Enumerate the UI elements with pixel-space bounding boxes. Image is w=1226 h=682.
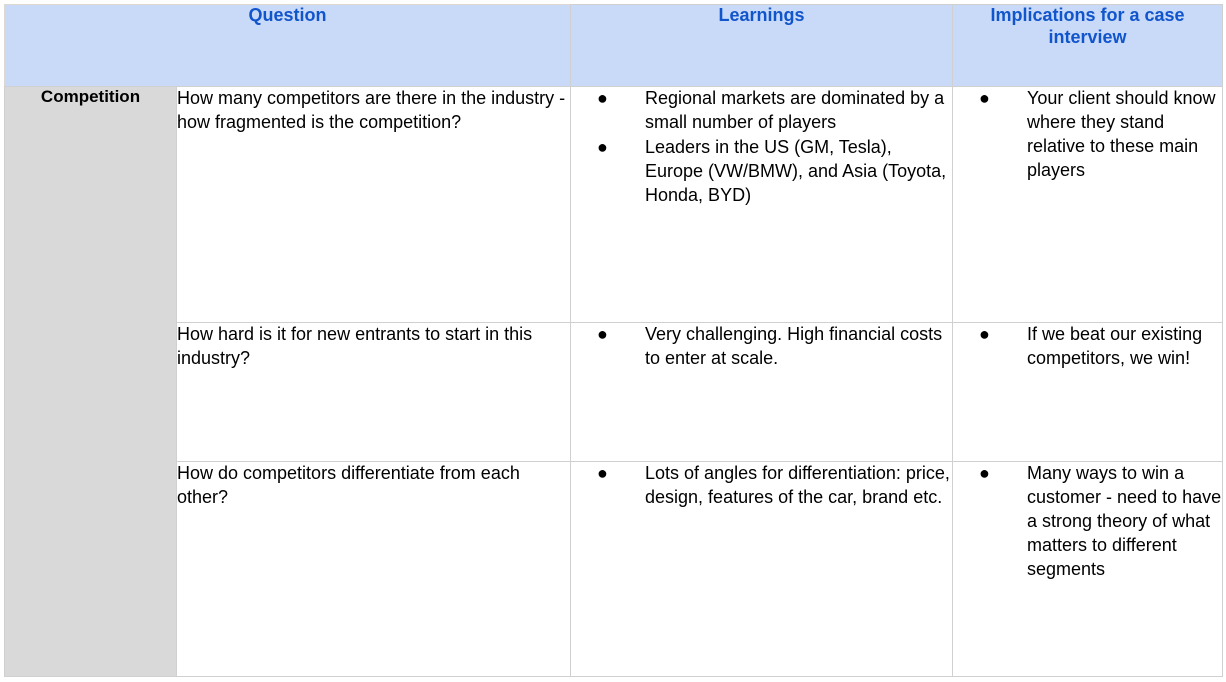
bullet-icon: ● [979, 462, 991, 486]
bullet-icon: ● [597, 87, 609, 111]
list-item-text: Many ways to win a customer - need to ha… [1027, 463, 1221, 579]
list-item-text: Very challenging. High financial costs t… [645, 324, 942, 368]
column-header-implications[interactable]: Implications for a case interview [953, 5, 1223, 87]
implications-cell[interactable]: ● If we beat our existing competitors, w… [953, 323, 1223, 462]
bullet-icon: ● [979, 87, 991, 111]
column-header-learnings[interactable]: Learnings [571, 5, 953, 87]
implications-list: ● Your client should know where they sta… [953, 87, 1222, 183]
list-item-text: Lots of angles for differentiation: pric… [645, 463, 950, 507]
list-item: ● Very challenging. High financial costs… [571, 323, 952, 371]
implications-cell[interactable]: ● Your client should know where they sta… [953, 87, 1223, 323]
table-row: How hard is it for new entrants to start… [5, 323, 1223, 462]
learnings-cell[interactable]: ● Regional markets are dominated by a sm… [571, 87, 953, 323]
table-body: Competition How many competitors are the… [5, 87, 1223, 677]
column-header-question[interactable]: Question [5, 5, 571, 87]
learnings-list: ● Lots of angles for differentiation: pr… [571, 462, 952, 510]
list-item-text: Regional markets are dominated by a smal… [645, 88, 944, 132]
list-item: ● Lots of angles for differentiation: pr… [571, 462, 952, 510]
table-header-row: Question Learnings Implications for a ca… [5, 5, 1223, 87]
list-item: ● Regional markets are dominated by a sm… [571, 87, 952, 135]
implications-list: ● If we beat our existing competitors, w… [953, 323, 1222, 371]
bullet-icon: ● [597, 462, 609, 486]
list-item: ● If we beat our existing competitors, w… [953, 323, 1222, 371]
implications-list: ● Many ways to win a customer - need to … [953, 462, 1222, 582]
competition-analysis-table: Question Learnings Implications for a ca… [4, 4, 1223, 677]
list-item-text: If we beat our existing competitors, we … [1027, 324, 1202, 368]
bullet-icon: ● [597, 136, 609, 160]
list-item: ● Leaders in the US (GM, Tesla), Europe … [571, 136, 952, 208]
table-row: Competition How many competitors are the… [5, 87, 1223, 323]
bullet-icon: ● [597, 323, 609, 347]
competition-matrix-sheet: Question Learnings Implications for a ca… [0, 0, 1226, 682]
list-item-text: Your client should know where they stand… [1027, 88, 1215, 180]
list-item: ● Many ways to win a customer - need to … [953, 462, 1222, 582]
table-row: How do competitors differentiate from ea… [5, 462, 1223, 677]
learnings-cell[interactable]: ● Lots of angles for differentiation: pr… [571, 462, 953, 677]
question-cell[interactable]: How hard is it for new entrants to start… [177, 323, 571, 462]
learnings-cell[interactable]: ● Very challenging. High financial costs… [571, 323, 953, 462]
learnings-list: ● Very challenging. High financial costs… [571, 323, 952, 371]
row-group-label-competition[interactable]: Competition [5, 87, 177, 677]
question-cell[interactable]: How do competitors differentiate from ea… [177, 462, 571, 677]
implications-cell[interactable]: ● Many ways to win a customer - need to … [953, 462, 1223, 677]
list-item: ● Your client should know where they sta… [953, 87, 1222, 183]
question-cell[interactable]: How many competitors are there in the in… [177, 87, 571, 323]
list-item-text: Leaders in the US (GM, Tesla), Europe (V… [645, 137, 946, 205]
bullet-icon: ● [979, 323, 991, 347]
learnings-list: ● Regional markets are dominated by a sm… [571, 87, 952, 208]
